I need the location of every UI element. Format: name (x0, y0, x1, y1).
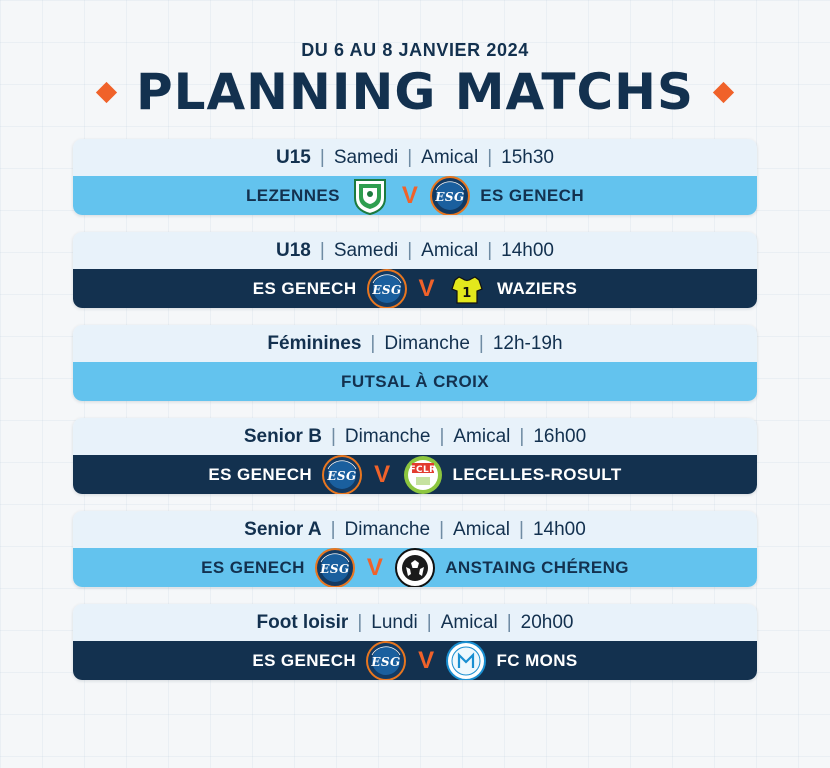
match-time: 16h00 (533, 426, 586, 448)
match-card: Senior A|Dimanche|Amical|14h00ES GENECH … (73, 511, 757, 587)
page-title: PLANNING MATCHS (136, 67, 694, 117)
match-card-body: ES GENECH ESG V 1 WAZIERS (73, 269, 757, 308)
match-category: U15 (276, 147, 311, 169)
home-team-name: ES GENECH (252, 651, 356, 671)
home-team-name: ES GENECH (201, 558, 305, 578)
match-card-header: Foot loisir|Lundi|Amical|20h00 (73, 604, 757, 641)
title-row: PLANNING MATCHS (0, 67, 830, 117)
match-category: Foot loisir (257, 612, 349, 634)
match-card: U15|Samedi|Amical|15h30LEZENNES V ESG ES… (73, 139, 757, 215)
match-category: Senior A (244, 519, 321, 541)
match-card-body: ES GENECH ESG V FC MONS (73, 641, 757, 680)
away-team-name: ANSTAING CHÉRENG (445, 558, 629, 578)
es-genech-crest-icon: ESG (315, 548, 355, 588)
versus-label: V (402, 184, 418, 208)
match-card: Senior B|Dimanche|Amical|16h00ES GENECH … (73, 418, 757, 494)
match-category: Féminines (267, 333, 361, 355)
match-card: Foot loisir|Lundi|Amical|20h00ES GENECH … (73, 604, 757, 680)
diamond-right-icon (713, 81, 734, 102)
away-team-name: LECELLES-ROSULT (453, 465, 622, 485)
es-genech-crest-icon: ESG (367, 269, 407, 309)
separator-icon: | (331, 519, 336, 541)
match-type: Amical (421, 240, 478, 262)
away-team-name: FC MONS (496, 651, 577, 671)
match-type: Amical (453, 426, 510, 448)
home-team-name: ES GENECH (208, 465, 312, 485)
separator-icon: | (331, 426, 336, 448)
separator-icon: | (487, 240, 492, 262)
separator-icon: | (370, 333, 375, 355)
svg-text:ESG: ESG (435, 190, 465, 204)
match-type: Amical (421, 147, 478, 169)
match-time: 12h-19h (493, 333, 563, 355)
match-category: U18 (276, 240, 311, 262)
match-card-body: ES GENECH ESG V ANSTAING CHÉRENG (73, 548, 757, 587)
separator-icon: | (320, 240, 325, 262)
anstaing-chereng-crest-icon (395, 548, 435, 588)
poster-header: DU 6 AU 8 JANVIER 2024 PLANNING MATCHS (0, 0, 830, 117)
match-day: Dimanche (384, 333, 470, 355)
separator-icon: | (439, 426, 444, 448)
match-card: U18|Samedi|Amical|14h00ES GENECH ESG V 1… (73, 232, 757, 308)
separator-icon: | (427, 612, 432, 634)
svg-text:ESG: ESG (326, 469, 356, 483)
home-team-name: LEZENNES (246, 186, 340, 206)
match-time: 15h30 (501, 147, 554, 169)
match-day: Samedi (334, 240, 398, 262)
separator-icon: | (519, 519, 524, 541)
match-day: Lundi (371, 612, 418, 634)
match-list: U15|Samedi|Amical|15h30LEZENNES V ESG ES… (73, 139, 757, 680)
match-card-body: ES GENECH ESG V FCLR LECELLES-ROSULT (73, 455, 757, 494)
es-genech-crest-icon: ESG (366, 641, 406, 681)
match-category: Senior B (244, 426, 322, 448)
match-day: Samedi (334, 147, 398, 169)
match-type: Amical (441, 612, 498, 634)
versus-label: V (418, 649, 434, 673)
away-team-name: ES GENECH (480, 186, 584, 206)
match-card-header: U15|Samedi|Amical|15h30 (73, 139, 757, 176)
svg-text:1: 1 (462, 286, 471, 301)
match-day: Dimanche (345, 519, 431, 541)
separator-icon: | (407, 147, 412, 169)
separator-icon: | (487, 147, 492, 169)
date-range: DU 6 AU 8 JANVIER 2024 (0, 40, 830, 61)
separator-icon: | (407, 240, 412, 262)
separator-icon: | (357, 612, 362, 634)
match-card-body: LEZENNES V ESG ES GENECH (73, 176, 757, 215)
diamond-left-icon (96, 81, 117, 102)
lecelles-rosult-crest-icon: FCLR (403, 455, 443, 495)
match-card-body: FUTSAL À CROIX (73, 362, 757, 401)
home-team-name: ES GENECH (253, 279, 357, 299)
fc-mons-crest-icon (446, 641, 486, 681)
planning-poster: DU 6 AU 8 JANVIER 2024 PLANNING MATCHS U… (0, 0, 830, 768)
svg-text:ESG: ESG (370, 655, 400, 669)
svg-text:ESG: ESG (319, 562, 349, 576)
lezennes-crest-icon (350, 176, 390, 216)
match-card-header: Senior B|Dimanche|Amical|16h00 (73, 418, 757, 455)
separator-icon: | (479, 333, 484, 355)
away-team-name: WAZIERS (497, 279, 577, 299)
waziers-jersey-icon: 1 (447, 269, 487, 309)
match-card-header: U18|Samedi|Amical|14h00 (73, 232, 757, 269)
match-day: Dimanche (345, 426, 431, 448)
versus-label: V (374, 463, 390, 487)
separator-icon: | (320, 147, 325, 169)
separator-icon: | (507, 612, 512, 634)
match-card-header: Senior A|Dimanche|Amical|14h00 (73, 511, 757, 548)
svg-text:ESG: ESG (371, 283, 401, 297)
match-time: 14h00 (533, 519, 586, 541)
match-time: 14h00 (501, 240, 554, 262)
match-type: Amical (453, 519, 510, 541)
separator-icon: | (519, 426, 524, 448)
match-time: 20h00 (521, 612, 574, 634)
match-event-label: FUTSAL À CROIX (341, 372, 489, 392)
es-genech-crest-icon: ESG (430, 176, 470, 216)
es-genech-crest-icon: ESG (322, 455, 362, 495)
separator-icon: | (439, 519, 444, 541)
versus-label: V (367, 556, 383, 580)
svg-text:FCLR: FCLR (409, 465, 436, 475)
match-card-header: Féminines|Dimanche|12h-19h (73, 325, 757, 362)
match-card: Féminines|Dimanche|12h-19hFUTSAL À CROIX (73, 325, 757, 401)
versus-label: V (419, 277, 435, 301)
